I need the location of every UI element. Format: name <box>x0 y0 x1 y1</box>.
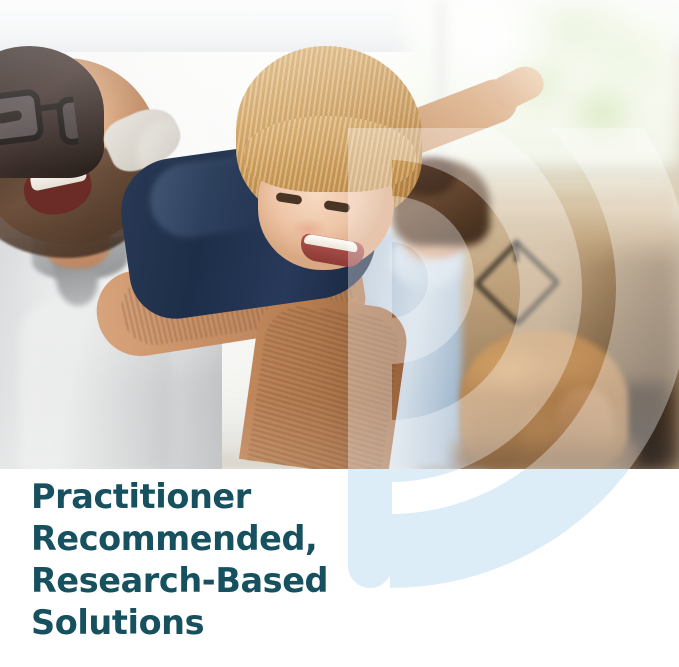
page-headline: Practitioner Recommended, Research-Based… <box>31 476 591 644</box>
background-frame-hook <box>514 240 519 262</box>
banner-image: Practitioner Recommended, Research-Based… <box>0 0 679 667</box>
depth-of-field-bottom <box>0 400 679 469</box>
lifestyle-photo <box>0 0 679 469</box>
depth-of-field-top <box>0 0 679 170</box>
